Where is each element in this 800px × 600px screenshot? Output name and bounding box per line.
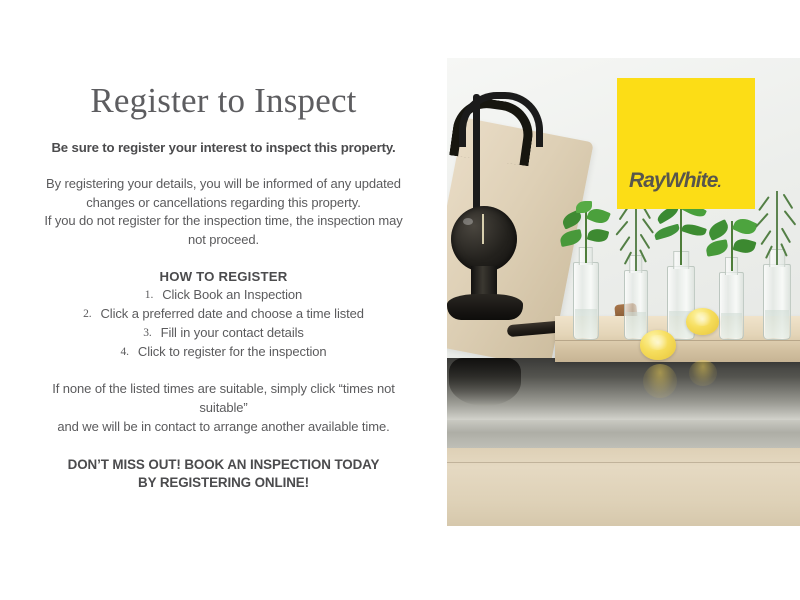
step-text: Click Book an Inspection — [162, 287, 302, 302]
logo-dot: . — [717, 174, 721, 191]
lemon-half — [640, 330, 676, 360]
step-text: Click to register for the inspection — [138, 344, 327, 359]
bottle-water — [765, 310, 789, 338]
spacer — [6, 250, 441, 269]
step-number: 4. — [120, 346, 128, 358]
fallback-paragraph: If none of the listed times are suitable… — [6, 380, 441, 437]
rosemary-sprig — [753, 191, 800, 265]
bench-edge — [447, 420, 800, 449]
intro-line-3: If you do not register for the inspectio… — [6, 212, 441, 231]
scale-reflection — [449, 358, 521, 406]
lemon-reflection — [689, 360, 717, 386]
fallback-line-3: and we will be in contact to arrange ano… — [6, 418, 441, 437]
intro-line-1: By registering your details, you will be… — [6, 175, 441, 194]
how-to-register-heading: HOW TO REGISTER — [6, 269, 441, 284]
list-item: 1.Click Book an Inspection — [6, 286, 441, 305]
herb-bottle — [719, 272, 744, 340]
property-photo: RayWhite. — [447, 58, 800, 526]
cta-line-2: BY REGISTERING ONLINE! — [6, 474, 441, 492]
lemon-reflection — [643, 364, 677, 398]
herb-bottle — [573, 262, 599, 340]
intro-line-4: not proceed. — [6, 231, 441, 250]
cta-text: DON’T MISS OUT! BOOK AN INSPECTION TODAY… — [6, 456, 441, 492]
step-text: Fill in your contact details — [161, 325, 304, 340]
lemon-half — [686, 308, 719, 335]
text-panel: Register to Inspect Be sure to register … — [0, 82, 447, 492]
fallback-line-1: If none of the listed times are suitable… — [6, 380, 441, 399]
poster-canvas: Register to Inspect Be sure to register … — [0, 0, 800, 600]
bottle-water — [721, 313, 742, 338]
bottle-water — [626, 312, 646, 338]
bottle-water — [575, 309, 597, 338]
basil-sprig — [558, 205, 614, 263]
intro-line-2: changes or cancellations regarding this … — [6, 194, 441, 213]
cta-line-1: DON’T MISS OUT! BOOK AN INSPECTION TODAY — [6, 456, 441, 474]
list-item: 4.Click to register for the inspection — [6, 343, 441, 362]
herb-bottle — [624, 270, 648, 340]
scale-base — [447, 294, 523, 320]
ray-white-logo: RayWhite. — [617, 78, 755, 209]
page-title: Register to Inspect — [6, 82, 441, 121]
fallback-line-2: suitable” — [6, 399, 441, 418]
how-to-register-steps: 1.Click Book an Inspection 2.Click a pre… — [6, 286, 441, 361]
scale-dial — [451, 206, 517, 272]
herb-bottle — [763, 264, 791, 340]
step-number: 2. — [83, 308, 91, 320]
lede-text: Be sure to register your interest to ins… — [6, 139, 441, 156]
rosemary-sprig — [613, 199, 659, 271]
logo-text: RayWhite — [629, 169, 717, 192]
step-number: 3. — [143, 327, 151, 339]
step-text: Click a preferred date and choose a time… — [101, 306, 364, 321]
photo-scene: RayWhite. — [447, 58, 800, 526]
timber-cabinet — [447, 448, 800, 526]
herb-sprig — [654, 203, 708, 267]
step-number: 1. — [145, 289, 153, 301]
list-item: 2.Click a preferred date and choose a ti… — [6, 305, 441, 324]
spacer — [6, 437, 441, 456]
basil-sprig — [704, 217, 760, 273]
intro-paragraph: By registering your details, you will be… — [6, 175, 441, 250]
spacer — [6, 361, 441, 380]
ray-white-wordmark: RayWhite. — [629, 169, 722, 193]
scale-neck — [473, 94, 480, 214]
list-item: 3.Fill in your contact details — [6, 324, 441, 343]
